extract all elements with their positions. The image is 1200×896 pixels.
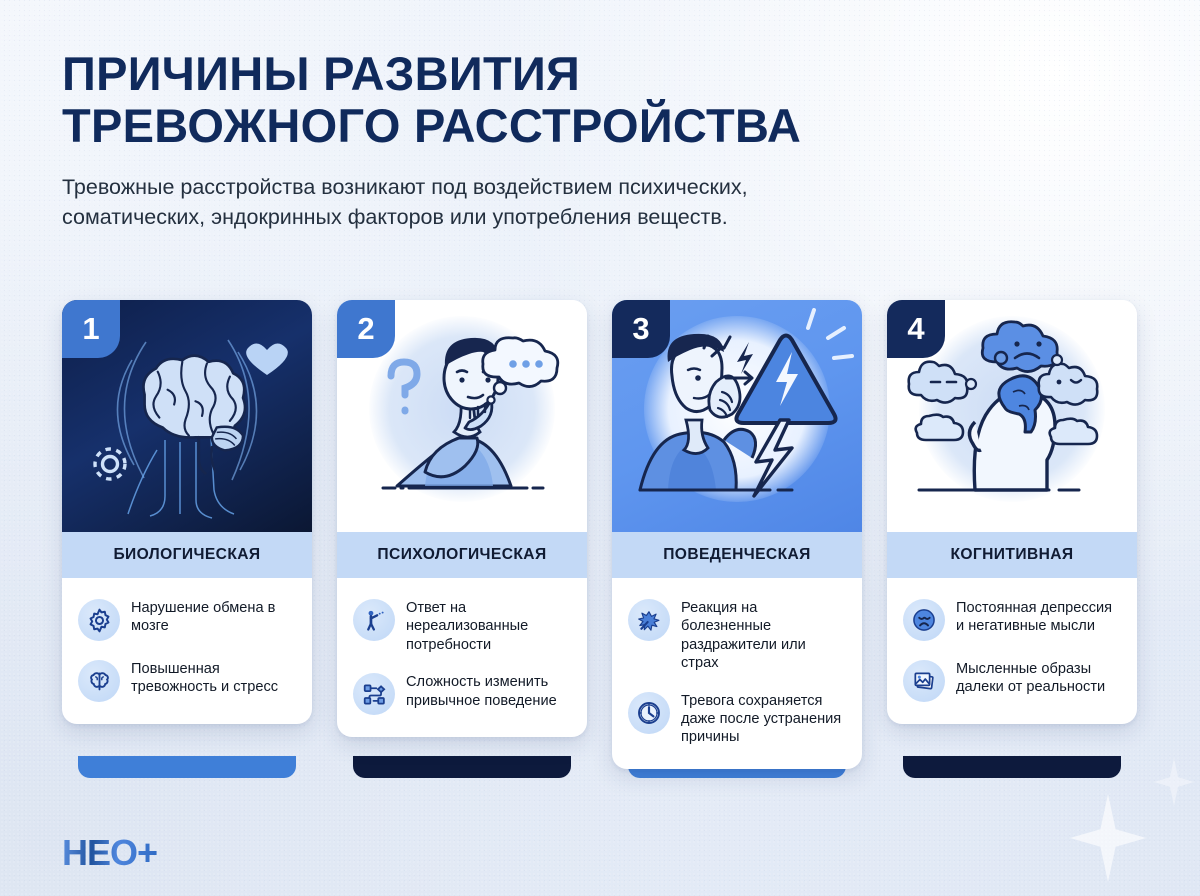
bullet-item: Нарушение обмена в мозге [78,598,296,641]
page-subtitle-line-1: Тревожные расстройства возникают под воз… [62,172,1022,202]
bullet-text: Мысленные образы далеки от реальности [956,659,1121,697]
card-accent-bar-4 [903,756,1121,778]
bullet-item: Повышенная тревожность и стресс [78,659,296,702]
card-number-badge-4: 4 [887,300,945,358]
card-label-2: ПСИХОЛОГИЧЕСКАЯ [337,532,587,578]
bullet-item: Реакция на болезненные раздражители или … [628,598,846,673]
person-reaching-icon [353,599,395,641]
page-title-line-1: ПРИЧИНЫ РАЗВИТИЯ [62,48,1102,100]
card-illustration-3: 3 [612,300,862,532]
card-accent-bar-2 [353,756,571,778]
card-label-4: КОГНИТИВНАЯ [887,532,1137,578]
card-accent-bar-1 [78,756,296,778]
card-label-3: ПОВЕДЕНЧЕСКАЯ [612,532,862,578]
card-bullets-3: Реакция на болезненные раздражители или … [612,578,862,769]
cause-card-3[interactable]: 3 [612,300,862,769]
card-wrapper-4: 4 [887,300,1137,769]
bullet-text: Реакция на болезненные раздражители или … [681,598,846,673]
page-title-line-2: ТРЕВОЖНОГО РАССТРОЙСТВА [62,100,1102,152]
images-icon [903,660,945,702]
card-number-badge-1: 1 [62,300,120,358]
bullet-item: Постоянная депрессия и негативные мысли [903,598,1121,641]
bullet-text: Повышенная тревожность и стресс [131,659,296,697]
thought-cloud-neutral-icon [909,362,968,403]
flowchart-icon [353,673,395,715]
page-title: ПРИЧИНЫ РАЗВИТИЯ ТРЕВОЖНОГО РАССТРОЙСТВА [62,48,1102,151]
card-wrapper-3: 3 [612,300,862,769]
page-subtitle: Тревожные расстройства возникают под воз… [62,172,1022,232]
card-wrapper-2: 2 [337,300,587,769]
bullet-item: Тревога сохраняется даже после устранени… [628,691,846,747]
thought-cloud-small-right-icon [1050,419,1097,444]
card-number-badge-2: 2 [337,300,395,358]
cause-card-2[interactable]: 2 [337,300,587,737]
thought-cloud-sad-icon [982,322,1057,372]
clock-icon [628,692,670,734]
card-illustration-2: 2 [337,300,587,532]
infographic-page: ПРИЧИНЫ РАЗВИТИЯ ТРЕВОЖНОГО РАССТРОЙСТВА… [0,0,1200,896]
bullet-text: Тревога сохраняется даже после устранени… [681,691,846,747]
card-label-1: БИОЛОГИЧЕСКАЯ [62,532,312,578]
page-subtitle-line-2: соматических, эндокринных факторов или у… [62,202,1022,232]
bullet-text: Сложность изменить привычное поведение [406,672,571,710]
thought-cloud-wink-icon [1039,364,1098,405]
bullet-text: Постоянная депрессия и негативные мысли [956,598,1121,636]
card-bullets-4: Постоянная депрессия и негативные мысли … [887,578,1137,724]
question-mark-icon [391,362,417,411]
cause-cards-grid: 1 [62,300,1138,769]
card-illustration-1: 1 [62,300,312,532]
cause-card-1[interactable]: 1 [62,300,312,724]
bullet-text: Ответ на нереализованные потребности [406,598,571,654]
header: ПРИЧИНЫ РАЗВИТИЯ ТРЕВОЖНОГО РАССТРОЙСТВА… [62,48,1102,233]
brand-logo: НЕО+ [62,832,157,874]
card-number-badge-3: 3 [612,300,670,358]
bullet-text: Нарушение обмена в мозге [131,598,296,636]
bullet-item: Ответ на нереализованные потребности [353,598,571,654]
sad-face-icon [903,599,945,641]
bullet-item: Мысленные образы далеки от реальности [903,659,1121,702]
cause-card-4[interactable]: 4 [887,300,1137,724]
brain-icon [78,660,120,702]
burst-icon [628,599,670,641]
card-bullets-2: Ответ на нереализованные потребности [337,578,587,737]
card-illustration-4: 4 [887,300,1137,532]
bullet-item: Сложность изменить привычное поведение [353,672,571,715]
thought-cloud-small-left-icon [916,415,963,440]
gear-icon [78,599,120,641]
card-wrapper-1: 1 [62,300,312,769]
card-bullets-1: Нарушение обмена в мозге [62,578,312,724]
